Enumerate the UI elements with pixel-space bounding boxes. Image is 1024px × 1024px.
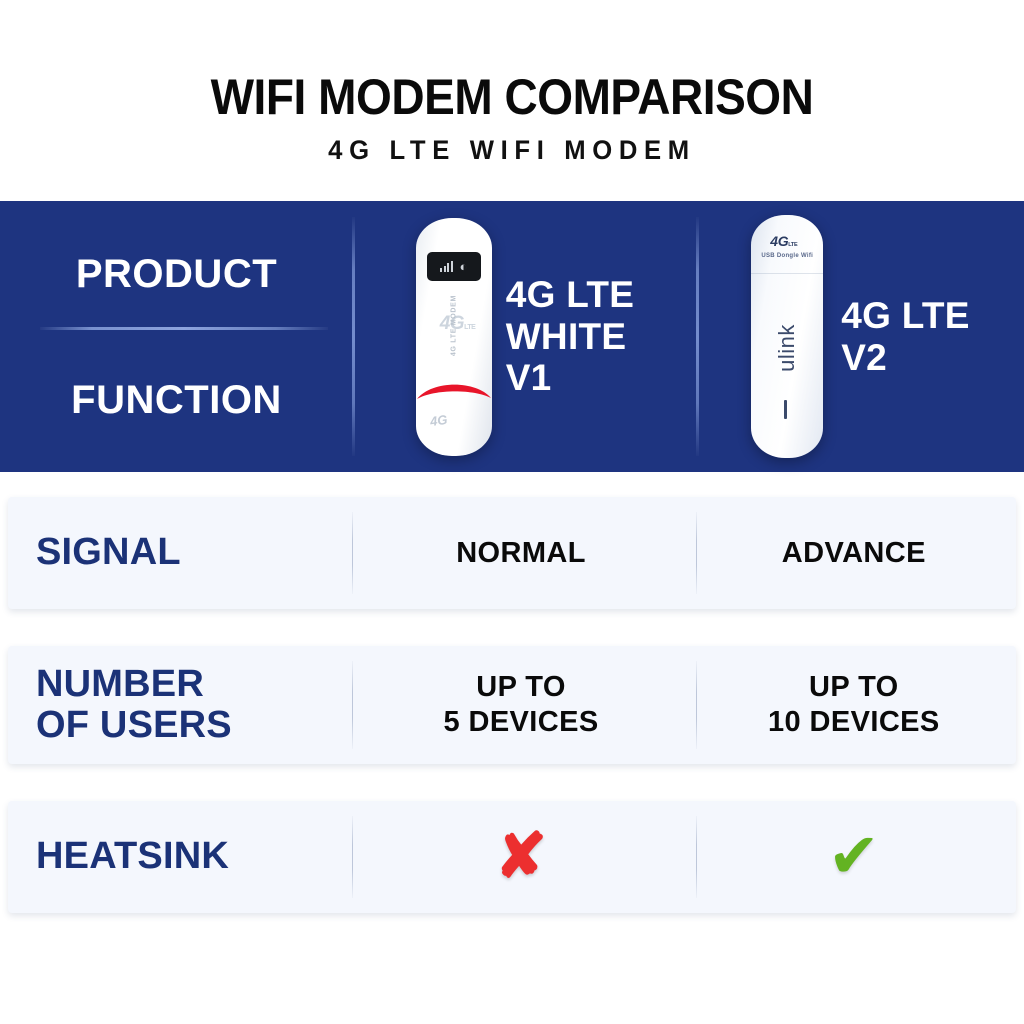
title-block: WIFI MODEM COMPARISON 4G LTE WIFI MODEM: [0, 0, 1024, 164]
modem-screen: ◐: [427, 252, 481, 281]
cross-icon: ✘: [495, 826, 547, 888]
row-divider-1: [352, 512, 353, 594]
row-divider-2: [696, 816, 697, 898]
feature-name-cell: HEATSINK: [8, 801, 350, 913]
comparison-header-band: PRODUCT FUNCTION ◐ 4GLTE 4G LTE MODEM 4G…: [0, 201, 1024, 472]
feature-name-cell: SIGNAL: [8, 497, 350, 609]
table-row: SIGNAL NORMAL ADVANCE: [8, 497, 1016, 609]
modem-v2-subtitle: USB Dongle Wifi: [751, 253, 823, 259]
check-icon: ✔: [828, 826, 880, 888]
page-title: WIFI MODEM COMPARISON: [41, 72, 983, 122]
feature-label: NUMBER OF USERS: [36, 664, 232, 746]
device-v2-wrap: 4GLTE USB Dongle Wifi ulink 4G LTE V2: [697, 201, 1024, 472]
row-divider-1: [352, 661, 353, 749]
feature-value-v2: UP TO 10 DEVICES: [768, 670, 940, 740]
modem-v2-brand-text: ulink: [776, 294, 798, 402]
comparison-rows: SIGNAL NORMAL ADVANCE NUMBER OF USERS UP…: [0, 472, 1024, 913]
device-v1-wrap: ◐ 4GLTE 4G LTE MODEM 4G 4G LTE WHITE V1: [353, 201, 697, 472]
product-label: PRODUCT: [76, 254, 277, 294]
header-label-column: PRODUCT FUNCTION: [0, 201, 353, 472]
signal-bars-icon: [440, 261, 453, 272]
page-subtitle: 4G LTE WIFI MODEM: [26, 137, 999, 164]
modem-device-v2: 4GLTE USB Dongle Wifi ulink: [751, 215, 823, 458]
feature-value-v2: ADVANCE: [782, 536, 926, 571]
red-swoosh-accent: [416, 376, 492, 402]
wifi-icon: ◐: [460, 260, 468, 273]
header-column-divider-2: [696, 217, 699, 456]
feature-value-cell-v2: ADVANCE: [692, 497, 1016, 609]
row-divider-2: [696, 661, 697, 749]
modem-v2-cap-seam: [751, 273, 823, 274]
feature-label: HEATSINK: [36, 836, 229, 877]
product-name-v1: 4G LTE WHITE V1: [506, 274, 635, 398]
modem-v2-mark: [784, 400, 787, 419]
feature-value-cell-v2: ✔: [692, 801, 1016, 913]
feature-name-cell: NUMBER OF USERS: [8, 646, 350, 764]
feature-value-cell-v1: UP TO 5 DEVICES: [350, 646, 691, 764]
function-label: FUNCTION: [71, 380, 282, 420]
row-divider-2: [696, 512, 697, 594]
modem-side-brand-text: 4G LTE MODEM: [450, 289, 457, 361]
feature-value-v1: NORMAL: [456, 536, 586, 571]
product-column-v1: ◐ 4GLTE 4G LTE MODEM 4G 4G LTE WHITE V1: [353, 201, 697, 472]
header-column-divider-1: [352, 217, 355, 456]
modem-bottom-logo: 4G: [429, 412, 448, 427]
feature-value-cell-v1: NORMAL: [350, 497, 691, 609]
modem-v2-4g-logo: 4GLTE: [770, 234, 797, 249]
product-name-v2: 4G LTE V2: [841, 295, 970, 378]
row-divider-1: [352, 816, 353, 898]
product-column-v2: 4GLTE USB Dongle Wifi ulink 4G LTE V2: [697, 201, 1024, 472]
feature-label: SIGNAL: [36, 532, 181, 573]
feature-value-cell-v2: UP TO 10 DEVICES: [692, 646, 1016, 764]
table-row: NUMBER OF USERS UP TO 5 DEVICES UP TO 10…: [8, 646, 1016, 764]
modem-device-v1: ◐ 4GLTE 4G LTE MODEM 4G: [416, 218, 492, 456]
table-row: HEATSINK ✘ ✔: [8, 801, 1016, 913]
product-function-divider: [40, 327, 328, 330]
feature-value-v1: UP TO 5 DEVICES: [443, 670, 598, 740]
feature-value-cell-v1: ✘: [350, 801, 691, 913]
